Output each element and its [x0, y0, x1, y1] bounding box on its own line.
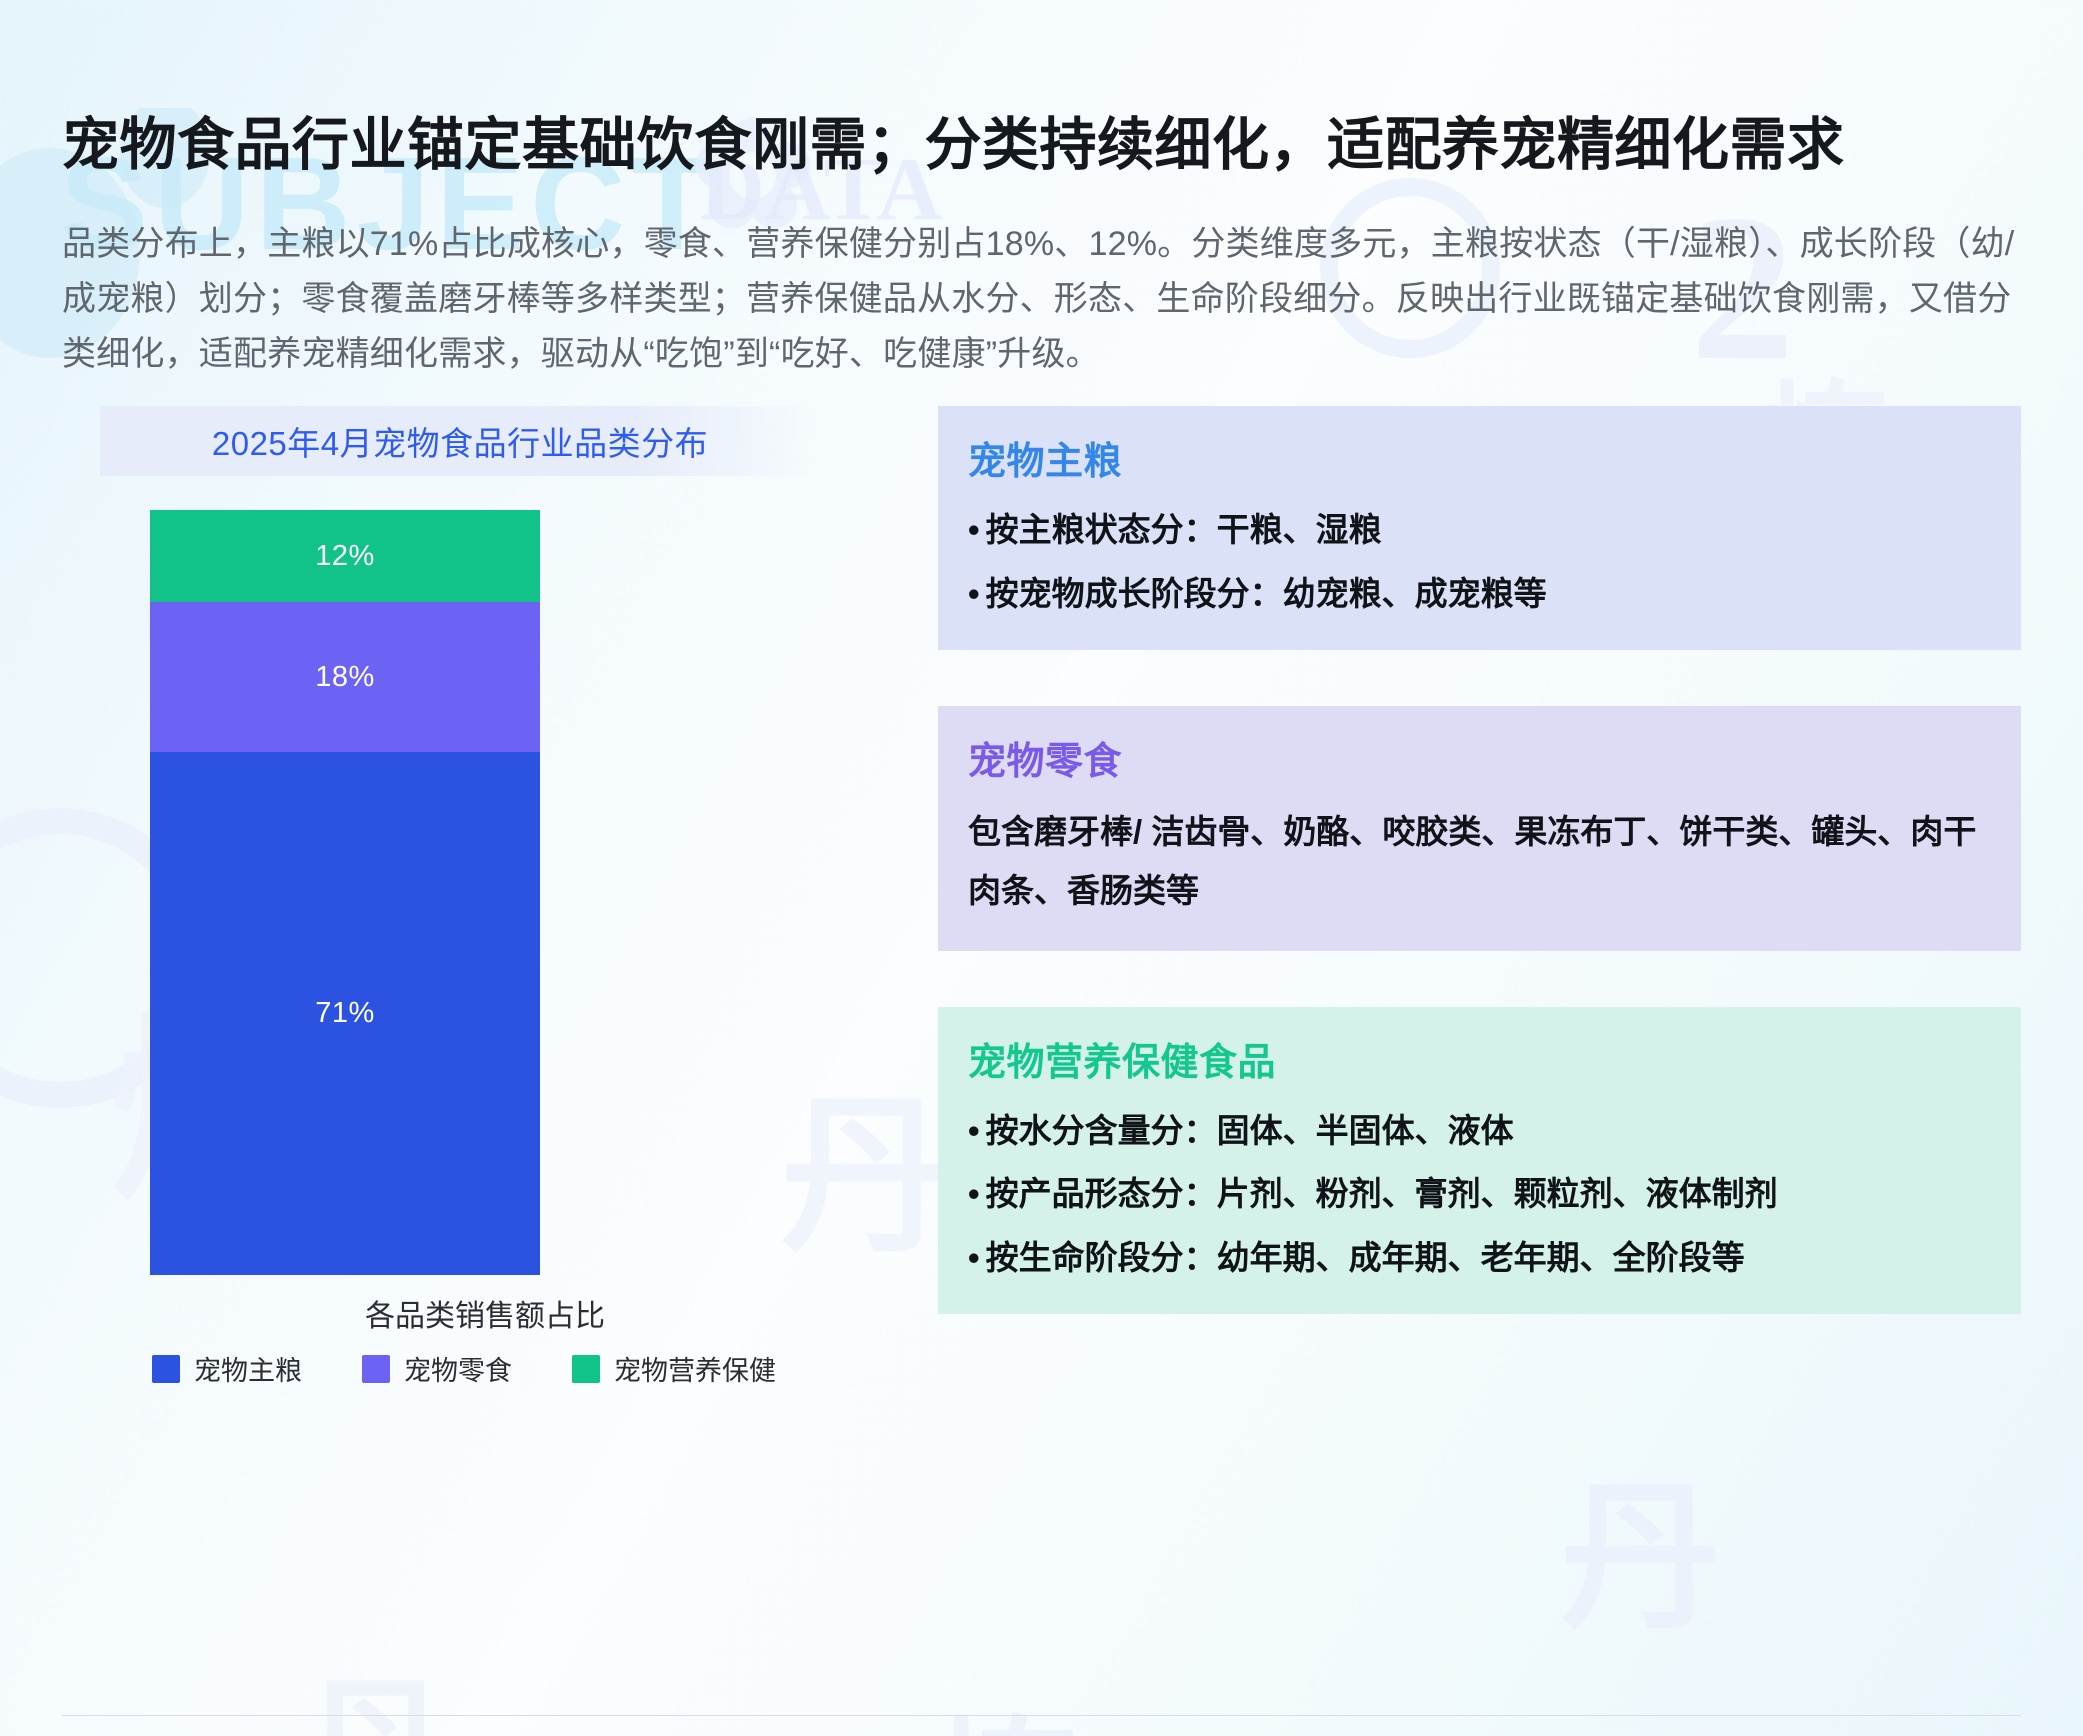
chart-title-bar: 2025年4月宠物食品行业品类分布 — [100, 406, 820, 476]
card-pet-snack: 宠物零食 包含磨牙棒/ 洁齿骨、奶酪、咬胶类、果冻布丁、饼干类、罐头、肉干肉条、… — [938, 706, 2021, 950]
card-pet-staple-food: 宠物主粮 • 按主粮状态分：干粮、湿粮 • 按宠物成长阶段分：幼宠粮、成宠粮等 — [938, 406, 2021, 650]
legend-swatch-main — [152, 1355, 180, 1383]
legend-item-health[interactable]: 宠物营养保健 — [572, 1349, 776, 1388]
card-pet-health-food-bullet-2-text: 按产品形态分：片剂、粉剂、膏剂、颗粒剂、液体制剂 — [986, 1167, 1778, 1220]
card-pet-health-food-bullet-3: • 按生命阶段分：幼年期、成年期、老年期、全阶段等 — [968, 1231, 1991, 1284]
card-pet-staple-food-bullet-1-text: 按主粮状态分：干粮、湿粮 — [986, 503, 1382, 556]
summary-paragraph: 品类分布上，主粮以71%占比成核心，零食、营养保健分别占18%、12%。分类维度… — [62, 217, 2021, 382]
card-pet-staple-food-bullet-2-text: 按宠物成长阶段分：幼宠粮、成宠粮等 — [986, 567, 1547, 620]
footer-divider — [62, 1715, 2021, 1716]
content-area: 2025年4月宠物食品行业品类分布 12% 18% 71% 各品类销售额占比 — [62, 406, 2021, 1388]
card-pet-health-food-bullet-3-text: 按生命阶段分：幼年期、成年期、老年期、全阶段等 — [986, 1231, 1745, 1284]
stacked-bar-chart: 12% 18% 71% — [100, 510, 820, 1275]
card-pet-staple-food-bullet-1: • 按主粮状态分：干粮、湿粮 — [968, 503, 1991, 556]
bullet-icon: • — [968, 503, 980, 556]
bullet-icon: • — [968, 1167, 980, 1220]
card-pet-staple-food-title: 宠物主粮 — [968, 430, 1991, 485]
legend-swatch-health — [572, 1355, 600, 1383]
legend-item-snack[interactable]: 宠物零食 — [362, 1349, 512, 1388]
card-pet-staple-food-bullet-2: • 按宠物成长阶段分：幼宠粮、成宠粮等 — [968, 567, 1991, 620]
legend-label-health: 宠物营养保健 — [614, 1349, 776, 1388]
legend-label-snack: 宠物零食 — [404, 1349, 512, 1388]
stacked-bar: 12% 18% 71% — [150, 510, 540, 1275]
bar-segment-main[interactable]: 71% — [150, 752, 540, 1275]
bar-segment-main-label: 71% — [315, 997, 375, 1030]
card-pet-health-food-bullet-1-text: 按水分含量分：固体、半固体、液体 — [986, 1104, 1514, 1157]
page-title: 宠物食品行业锚定基础饮食刚需；分类持续细化，适配养宠精细化需求 — [62, 108, 2021, 183]
legend-item-main[interactable]: 宠物主粮 — [152, 1349, 302, 1388]
chart-title: 2025年4月宠物食品行业品类分布 — [212, 417, 708, 465]
bar-segment-snack-label: 18% — [315, 661, 375, 694]
card-pet-snack-title: 宠物零食 — [968, 730, 1991, 785]
x-axis-label-wrap: 各品类销售额占比 — [100, 1291, 820, 1335]
bullet-icon: • — [968, 1104, 980, 1157]
card-pet-health-food-bullet-1: • 按水分含量分：固体、半固体、液体 — [968, 1104, 1991, 1157]
card-pet-health-food-bullet-2: • 按产品形态分：片剂、粉剂、膏剂、颗粒剂、液体制剂 — [968, 1167, 1991, 1220]
bar-segment-health[interactable]: 12% — [150, 510, 540, 602]
x-axis-label: 各品类销售额占比 — [365, 1300, 605, 1333]
card-pet-health-food-title: 宠物营养保健食品 — [968, 1031, 1991, 1086]
legend-swatch-snack — [362, 1355, 390, 1383]
legend-label-main: 宠物主粮 — [194, 1349, 302, 1388]
chart-legend: 宠物主粮 宠物零食 宠物营养保健 — [100, 1349, 862, 1388]
bullet-icon: • — [968, 1231, 980, 1284]
bar-segment-snack[interactable]: 18% — [150, 602, 540, 752]
card-pet-snack-paragraph: 包含磨牙棒/ 洁齿骨、奶酪、咬胶类、果冻布丁、饼干类、罐头、肉干肉条、香肠类等 — [968, 803, 1991, 920]
chart-panel: 2025年4月宠物食品行业品类分布 12% 18% 71% 各品类销售额占比 — [62, 406, 862, 1388]
category-cards: 宠物主粮 • 按主粮状态分：干粮、湿粮 • 按宠物成长阶段分：幼宠粮、成宠粮等 … — [938, 406, 2021, 1314]
slide-root: 宠物食品行业锚定基础饮食刚需；分类持续细化，适配养宠精细化需求 品类分布上，主粮… — [0, 108, 2083, 1736]
bar-segment-health-label: 12% — [315, 540, 375, 573]
bullet-icon: • — [968, 567, 980, 620]
card-pet-health-food: 宠物营养保健食品 • 按水分含量分：固体、半固体、液体 • 按产品形态分：片剂、… — [938, 1007, 2021, 1314]
